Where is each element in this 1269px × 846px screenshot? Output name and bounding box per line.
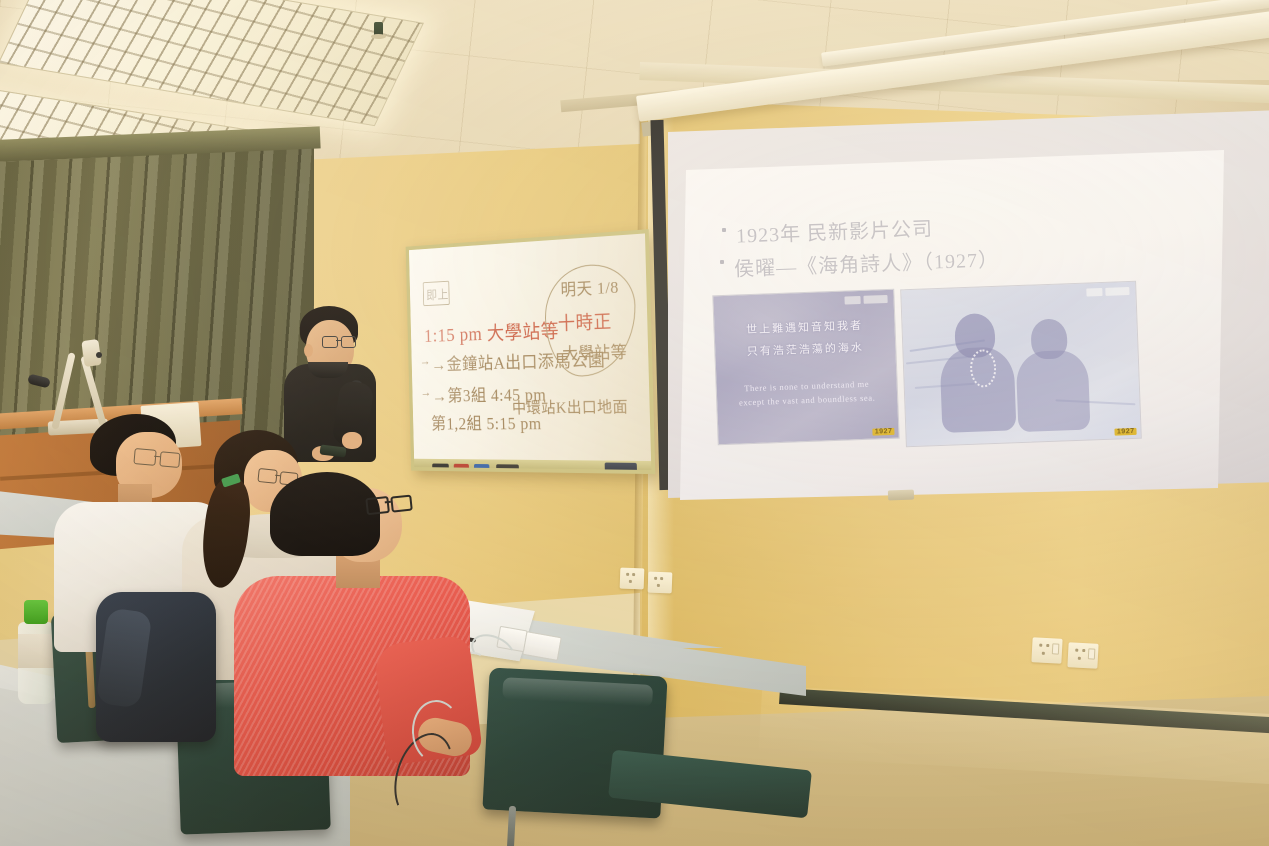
scene-figure-body xyxy=(1016,350,1091,433)
whiteboard-eraser[interactable] xyxy=(604,463,636,473)
water-bottle[interactable] xyxy=(18,600,54,704)
wall-socket[interactable] xyxy=(1031,637,1062,664)
marker[interactable] xyxy=(432,464,449,471)
wall-socket[interactable] xyxy=(1067,642,1098,669)
marker[interactable] xyxy=(496,464,519,471)
film-archive-logo-icon xyxy=(1086,287,1129,297)
whiteboard-arrow-icon: → xyxy=(420,385,431,399)
screen-bottom-weight-bar xyxy=(888,490,914,501)
slide-bullet-text-1: 1923年 民新影片公司 xyxy=(736,212,934,248)
slide-image-intertitle: 世上難遇知音知我者 只有浩茫浩蕩的海水 There is none to und… xyxy=(712,289,899,446)
marker[interactable] xyxy=(474,464,490,471)
backpack-strap xyxy=(96,607,153,708)
whiteboard-label-text: 即上 xyxy=(426,284,449,303)
slide-bullet-icon xyxy=(720,260,724,264)
student-hair xyxy=(270,472,380,556)
slide-bullet-icon xyxy=(722,228,726,232)
marker[interactable] xyxy=(454,464,469,471)
chair-highlight xyxy=(502,677,652,708)
bottle-label xyxy=(18,634,54,668)
whiteboard-arrow-icon: → xyxy=(420,354,431,368)
whiteboard-callout-line-3: 大學站等 xyxy=(562,338,628,364)
wall-socket[interactable] xyxy=(648,572,673,594)
bottle-cap xyxy=(24,600,48,624)
whiteboard: 即上 1:15 pm 大學站等 → →金鐘站A出口添馬公園 → →第3組 4:4… xyxy=(406,229,656,474)
film-archive-logo-icon xyxy=(844,295,887,305)
slide-image-scene: 1927 xyxy=(900,281,1142,448)
camera-lens-icon xyxy=(96,352,102,358)
classroom-photo: 即上 1:15 pm 大學站等 → →金鐘站A出口添馬公園 → →第3組 4:4… xyxy=(0,0,1269,846)
slide-bullet-text-2: 侯曜—《海角詩人》（1927） xyxy=(734,243,1000,282)
still-watermark-year: 1927 xyxy=(1115,428,1137,436)
presenter-ear xyxy=(304,344,313,357)
whiteboard-callout-line-1: 明天 1/8 xyxy=(560,273,619,301)
whiteboard-callout-line-2: 十時正 xyxy=(557,307,612,336)
whiteboard-line-1: 1:15 pm 大學站等 xyxy=(424,315,560,347)
whiteboard-line-5: 中環站K出口地面 xyxy=(512,393,629,417)
glasses-icon xyxy=(322,336,356,348)
still-watermark-year: 1927 xyxy=(873,428,895,436)
still-texture xyxy=(713,290,898,444)
glasses-icon xyxy=(365,494,410,515)
backpack[interactable] xyxy=(96,592,216,742)
sprinkler-head-icon xyxy=(374,22,383,37)
wall-socket[interactable] xyxy=(620,568,645,590)
